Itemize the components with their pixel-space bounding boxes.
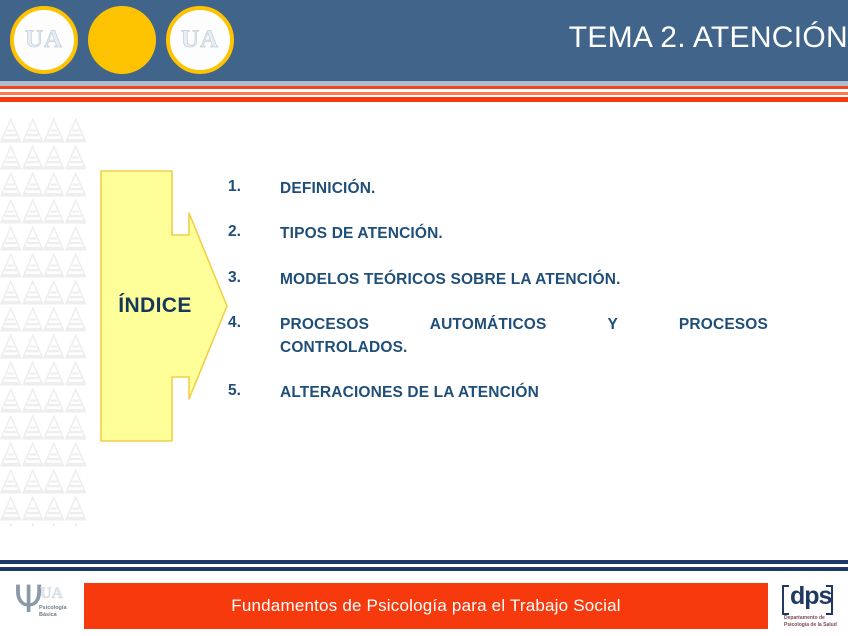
watermark-glyph (0, 361, 22, 388)
watermark-glyph (0, 307, 22, 334)
watermark-glyph (65, 172, 87, 199)
watermark-glyph (65, 199, 87, 226)
list-item-text: MODELOS TEÓRICOS SOBRE LA ATENCIÓN. (280, 269, 621, 291)
watermark-glyph (0, 388, 22, 415)
watermark-glyph (43, 388, 65, 415)
list-item-text-line2: CONTROLADOS. (280, 337, 768, 359)
watermark-glyph (65, 307, 87, 334)
list-item: 3. MODELOS TEÓRICOS SOBRE LA ATENCIÓN. (228, 269, 768, 291)
psi-logo: Ψ UA Psicología Básica (14, 581, 80, 631)
watermark-glyph (22, 496, 44, 523)
watermark-glyph (0, 199, 22, 226)
list-item-number: 1. (228, 178, 280, 200)
list-item: 1. DEFINICIÓN. (228, 178, 768, 200)
list-item: 2. TIPOS DE ATENCIÓN. (228, 223, 768, 245)
watermark-glyph (22, 523, 44, 526)
watermark-glyph (0, 253, 22, 280)
ua-circle-middle-icon (88, 6, 156, 74)
list-item-text: ALTERACIONES DE LA ATENCIÓN (280, 382, 539, 404)
footer-course-title: Fundamentos de Psicología para el Trabaj… (231, 596, 621, 616)
watermark-glyph (0, 496, 22, 523)
ua-circle-left-icon: UA (10, 6, 78, 74)
dps-bracket-left-icon (782, 585, 789, 615)
watermark-glyph (43, 334, 65, 361)
watermark-glyph (43, 496, 65, 523)
watermark-glyph (65, 226, 87, 253)
index-list: 1. DEFINICIÓN. 2. TIPOS DE ATENCIÓN. 3. … (228, 178, 768, 428)
watermark-glyph (22, 415, 44, 442)
watermark-glyph (0, 226, 22, 253)
watermark-glyph (43, 226, 65, 253)
background-watermark-pattern (0, 118, 86, 526)
separator-stripe-orange-3 (0, 97, 848, 102)
ua-circle-right-label: UA (181, 26, 219, 54)
watermark-glyph (65, 145, 87, 172)
watermark-glyph (43, 172, 65, 199)
watermark-glyph (22, 442, 44, 469)
dps-logo-subtitle-line2: Psicología de la Salud (784, 622, 837, 629)
ua-circle-left-label: UA (25, 26, 63, 54)
watermark-glyph (0, 469, 22, 496)
watermark-glyph (0, 172, 22, 199)
watermark-glyph (22, 199, 44, 226)
psi-logo-subtitle-line1: Psicología (39, 605, 67, 612)
dps-logo: dps Departamento de Psicología de la Sal… (782, 584, 838, 630)
watermark-glyph (65, 523, 87, 526)
watermark-glyph (0, 280, 22, 307)
psi-logo-ua-label: UA (40, 585, 63, 603)
watermark-glyph (43, 118, 65, 145)
list-item: 4. PROCESOS AUTOMÁTICOS Y PROCESOS CONTR… (228, 314, 768, 359)
list-item-number: 3. (228, 269, 280, 291)
list-item: 5. ALTERACIONES DE LA ATENCIÓN (228, 382, 768, 404)
ua-circle-right-icon: UA (166, 6, 234, 74)
watermark-glyph (65, 442, 87, 469)
list-item-number: 2. (228, 223, 280, 245)
watermark-glyph (22, 361, 44, 388)
watermark-glyph (65, 280, 87, 307)
psi-logo-subtitle: Psicología Básica (39, 605, 67, 619)
watermark-glyph (22, 307, 44, 334)
index-label: ÍNDICE (100, 170, 210, 442)
list-item-number: 4. (228, 314, 280, 359)
watermark-glyph (65, 469, 87, 496)
watermark-glyph (65, 118, 87, 145)
list-item-number: 5. (228, 382, 280, 404)
slide-header: UA UA TEMA 2. ATENCIÓN (0, 0, 848, 81)
header-logo-group: UA UA (10, 6, 234, 74)
watermark-glyph (22, 469, 44, 496)
footer-separator-line-bottom (0, 567, 848, 571)
watermark-glyph (22, 280, 44, 307)
dps-logo-subtitle: Departamento de Psicología de la Salud (784, 615, 837, 628)
watermark-glyph (22, 253, 44, 280)
watermark-glyph (43, 199, 65, 226)
watermark-glyph (43, 307, 65, 334)
watermark-glyph (22, 145, 44, 172)
watermark-glyph (43, 523, 65, 526)
watermark-glyph (22, 226, 44, 253)
watermark-glyph (43, 145, 65, 172)
list-item-text: DEFINICIÓN. (280, 178, 376, 200)
watermark-glyph (43, 253, 65, 280)
watermark-glyph (22, 334, 44, 361)
page-title: TEMA 2. ATENCIÓN (569, 21, 848, 55)
watermark-glyph (43, 361, 65, 388)
watermark-glyph (22, 172, 44, 199)
psi-logo-subtitle-line2: Básica (39, 612, 67, 619)
list-item-text-line1: PROCESOS AUTOMÁTICOS Y PROCESOS (280, 314, 768, 336)
watermark-glyph (22, 388, 44, 415)
list-item-text: PROCESOS AUTOMÁTICOS Y PROCESOS CONTROLA… (280, 314, 768, 359)
watermark-glyph (43, 442, 65, 469)
watermark-glyph (43, 469, 65, 496)
watermark-glyph (0, 145, 22, 172)
watermark-glyph (0, 415, 22, 442)
watermark-glyph (65, 388, 87, 415)
watermark-glyph (65, 496, 87, 523)
watermark-glyph (43, 415, 65, 442)
watermark-glyph (65, 334, 87, 361)
watermark-glyph (0, 118, 22, 145)
list-item-text: TIPOS DE ATENCIÓN. (280, 223, 443, 245)
watermark-glyph (43, 280, 65, 307)
watermark-glyph (0, 442, 22, 469)
watermark-glyph (65, 253, 87, 280)
watermark-glyph (65, 415, 87, 442)
watermark-glyph (22, 118, 44, 145)
footer-bar: Fundamentos de Psicología para el Trabaj… (84, 583, 768, 629)
watermark-glyph (65, 361, 87, 388)
watermark-glyph (0, 523, 22, 526)
watermark-glyph (0, 334, 22, 361)
dps-logo-mark: dps (790, 584, 831, 609)
